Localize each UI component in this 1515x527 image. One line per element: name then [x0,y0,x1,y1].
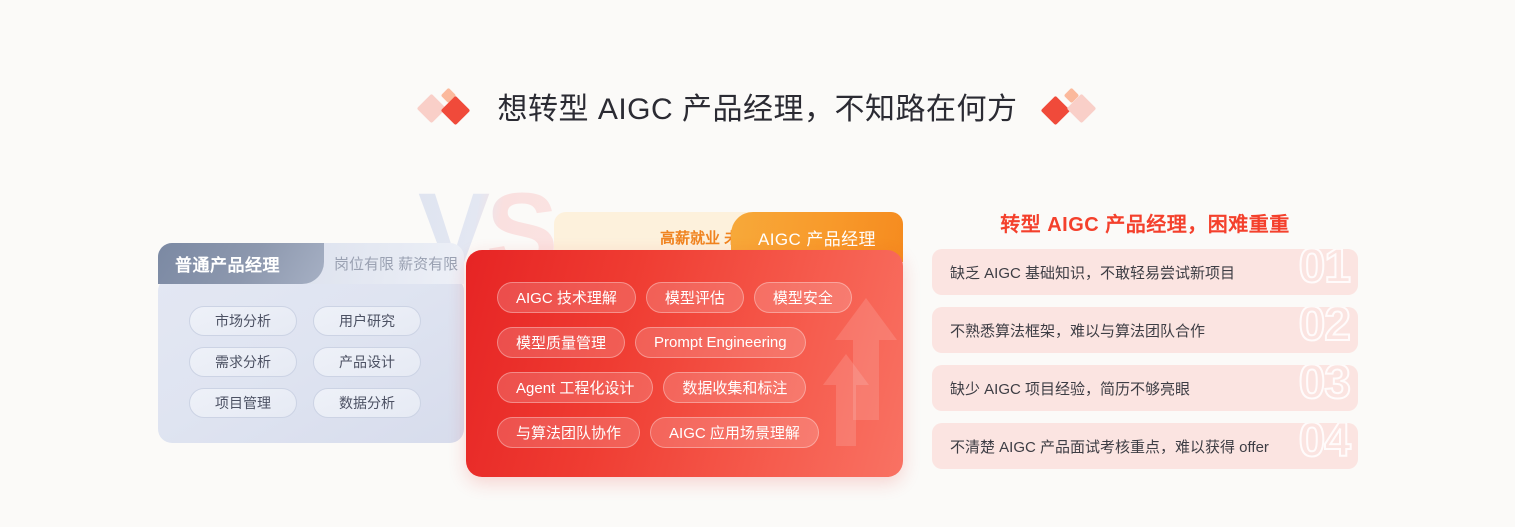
ordinary-pm-card-body: 市场分析用户研究需求分析产品设计项目管理数据分析 [158,277,464,443]
difficulty-item-number: 01 [1299,249,1350,291]
difficulty-item: 不熟悉算法框架，难以与算法团队合作02 [932,307,1358,353]
aigc-pm-skill-pill: AIGC 技术理解 [497,282,636,313]
aigc-pm-card-body: AIGC 技术理解模型评估模型安全模型质量管理Prompt Engineerin… [466,250,903,477]
ordinary-pm-tab: 普通产品经理 [158,243,324,284]
aigc-pm-skill-pill: 数据收集和标注 [663,372,806,403]
aigc-pm-skill-pill: 模型安全 [754,282,852,313]
page-header: 想转型 AIGC 产品经理，不知路在何方 [0,76,1515,136]
difficulty-item-number: 04 [1299,423,1350,465]
difficulty-item-text: 缺少 AIGC 项目经验，简历不够亮眼 [950,378,1190,399]
difficulty-item-text: 不清楚 AIGC 产品面试考核重点，难以获得 offer [950,436,1269,457]
ordinary-pm-card: 市场分析用户研究需求分析产品设计项目管理数据分析 岗位有限 薪资有限 普通产品经… [158,243,464,443]
diamond-red-icon [1040,96,1070,126]
aigc-pm-skill-pill: AIGC 应用场景理解 [650,417,819,448]
ordinary-pm-tab-label: 普通产品经理 [175,251,280,276]
ordinary-pm-skill-pill: 需求分析 [189,347,297,377]
aigc-pm-card: 高薪就业 未来趋势 AIGC 产品经理 AIGC 技术理解模型评估模型安全模型质… [466,212,903,477]
aigc-pm-tab-label: AIGC 产品经理 [758,225,876,250]
difficulty-item: 缺乏 AIGC 基础知识，不敢轻易尝试新项目01 [932,249,1358,295]
aigc-pm-skill-list: AIGC 技术理解模型评估模型安全模型质量管理Prompt Engineerin… [497,282,873,448]
difficulties-list: 缺乏 AIGC 基础知识，不敢轻易尝试新项目01不熟悉算法框架，难以与算法团队合… [932,249,1358,469]
difficulties-panel: 转型 AIGC 产品经理，困难重重 缺乏 AIGC 基础知识，不敢轻易尝试新项目… [932,208,1358,481]
difficulties-title: 转型 AIGC 产品经理，困难重重 [932,208,1358,237]
difficulty-item: 不清楚 AIGC 产品面试考核重点，难以获得 offer04 [932,423,1358,469]
difficulty-item: 缺少 AIGC 项目经验，简历不够亮眼03 [932,365,1358,411]
difficulty-item-number: 03 [1299,365,1350,407]
ordinary-pm-skill-pill: 项目管理 [189,388,297,418]
ordinary-pm-skill-pill: 市场分析 [189,306,297,336]
ordinary-pm-skill-pill: 产品设计 [313,347,421,377]
page-title: 想转型 AIGC 产品经理，不知路在何方 [497,84,1017,128]
diamond-cluster-right-icon [1040,86,1094,126]
ordinary-pm-strip-note: 岗位有限 薪资有限 [334,243,458,284]
aigc-pm-skill-pill: Agent 工程化设计 [497,372,653,403]
aigc-pm-skill-pill: Prompt Engineering [635,327,806,358]
ordinary-pm-skill-pill: 用户研究 [313,306,421,336]
ordinary-pm-skill-pill: 数据分析 [313,388,421,418]
aigc-pm-skill-pill: 与算法团队协作 [497,417,640,448]
difficulty-item-number: 02 [1299,307,1350,349]
diamond-cluster-left-icon [421,86,475,126]
ordinary-pm-card-strip: 岗位有限 薪资有限 普通产品经理 [158,243,464,284]
aigc-pm-skill-pill: 模型评估 [646,282,744,313]
difficulty-item-text: 缺乏 AIGC 基础知识，不敢轻易尝试新项目 [950,262,1235,283]
aigc-pm-skill-pill: 模型质量管理 [497,327,625,358]
difficulty-item-text: 不熟悉算法框架，难以与算法团队合作 [950,320,1205,341]
ordinary-pm-skill-list: 市场分析用户研究需求分析产品设计项目管理数据分析 [189,306,421,418]
